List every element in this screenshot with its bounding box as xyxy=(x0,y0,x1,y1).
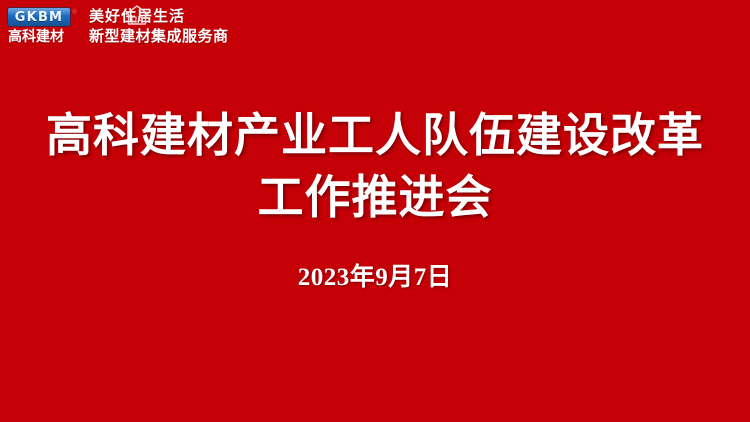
tagline-line-1-text: 美好住居生活 xyxy=(89,8,185,25)
title-line-2: 工作推进会 xyxy=(0,166,750,228)
slide-date: 2023年9月7日 xyxy=(0,262,750,294)
brand-logo-lockup: GKBM ® 高科建材 美好住居生活 新型建材集成服务商 xyxy=(8,8,229,58)
tagline-block: 美好住居生活 新型建材集成服务商 xyxy=(89,8,229,45)
logo-wordmark: GKBM xyxy=(15,11,63,24)
presentation-slide: GKBM ® 高科建材 美好住居生活 新型建材集成服务商 高科建材产业工人队伍建… xyxy=(0,0,750,422)
title-line-1: 高科建材产业工人队伍建设改革 xyxy=(0,104,750,166)
tagline-line-1: 美好住居生活 xyxy=(89,9,229,25)
registered-trademark-icon: ® xyxy=(72,9,77,16)
logo-block: GKBM ® 高科建材 xyxy=(8,8,80,44)
company-name-cn: 高科建材 xyxy=(8,29,80,44)
slide-title: 高科建材产业工人队伍建设改革 工作推进会 xyxy=(0,104,750,228)
gkbm-logo-icon: GKBM xyxy=(8,8,70,26)
logo-mark-row: GKBM ® xyxy=(8,8,80,26)
tagline-line-2: 新型建材集成服务商 xyxy=(89,29,229,45)
